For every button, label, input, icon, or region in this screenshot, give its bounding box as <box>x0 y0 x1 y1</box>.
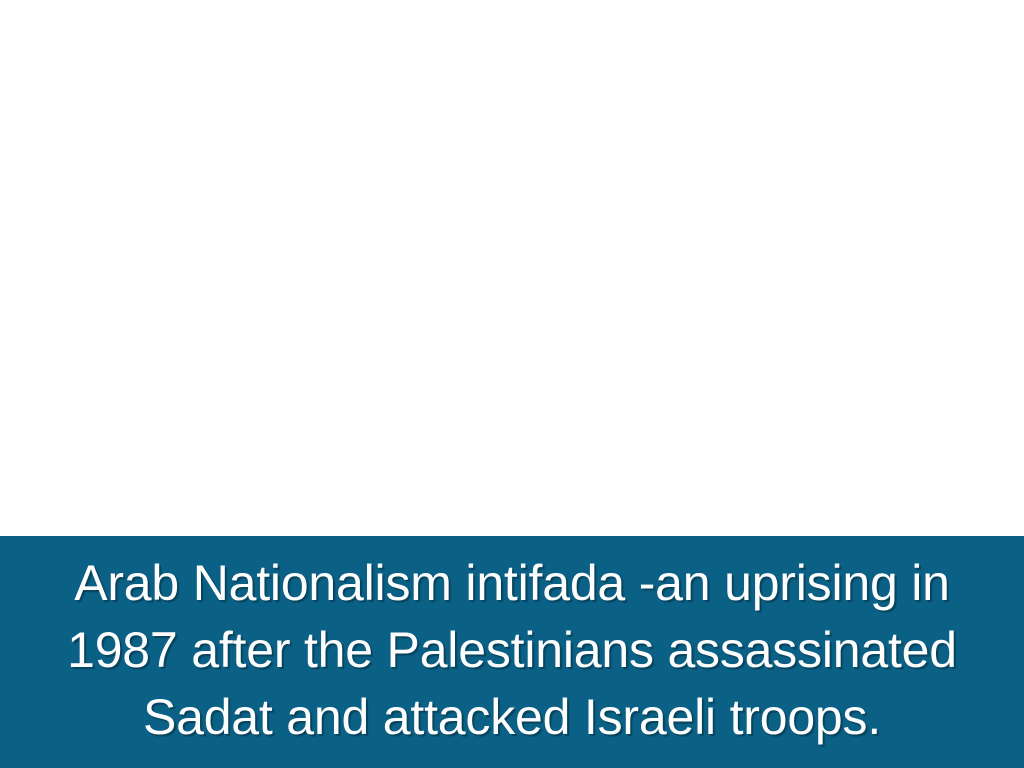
presentation-slide: Arab Nationalism intifada -an uprising i… <box>0 0 1024 768</box>
caption-line-3: Sadat and attacked Israeli troops. <box>0 684 1024 751</box>
caption-line-2: 1987 after the Palestinians assassinated <box>0 617 1024 684</box>
slide-content-area <box>0 0 1024 536</box>
caption-line-1: Arab Nationalism intifada -an uprising i… <box>0 550 1024 617</box>
caption-band: Arab Nationalism intifada -an uprising i… <box>0 536 1024 768</box>
